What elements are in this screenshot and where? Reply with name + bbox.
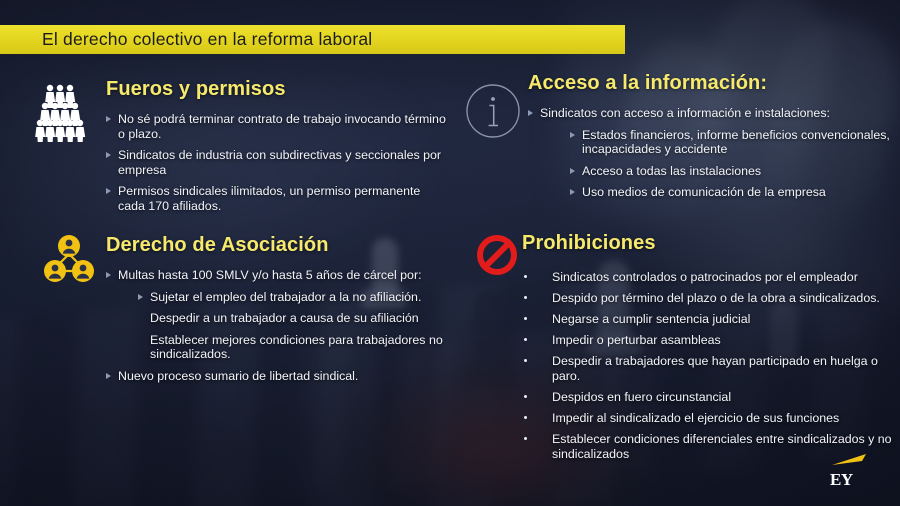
triangle-bullet-icon [570,189,575,195]
list-item: Despido por término del plazo o de la ob… [522,291,894,306]
list-item-text: Sindicatos controlados o patrocinados po… [552,270,858,284]
list-item: Permisos sindicales ilimitados, un permi… [106,184,448,213]
dot-bullet-icon [524,275,527,278]
list-item-text: Acceso a todas las instalaciones [582,164,761,178]
list-item-text: No sé podrá terminar contrato de trabajo… [118,112,446,141]
triangle-bullet-icon [106,152,111,158]
page-title: El derecho colectivo en la reforma labor… [42,29,372,50]
bullet-list-fueros: No sé podrá terminar contrato de trabajo… [106,112,448,214]
infographic-slide: El derecho colectivo en la reforma labor… [0,0,900,506]
list-item: Sindicatos controlados o patrocinados po… [522,270,894,285]
list-item: Sujetar el empleo del trabajador a la no… [138,290,458,305]
list-item: Establecer mejores condiciones para trab… [138,333,458,362]
dot-bullet-icon [524,395,527,398]
list-item-text: Impedir al sindicalizado el ejercicio de… [552,411,839,425]
list-item-text: Despedir a un trabajador a causa de su a… [150,311,419,325]
title-banner: El derecho colectivo en la reforma labor… [0,25,625,54]
section-header-asociacion: Derecho de Asociación [106,234,458,268]
dot-bullet-icon [524,317,527,320]
section-header-prohibiciones: Prohibiciones [522,232,894,266]
triangle-bullet-icon [106,373,111,379]
bullet-list-acceso: Sindicatos con acceso a información e in… [528,106,890,200]
list-item-text: Sindicatos de industria con subdirectiva… [118,148,441,177]
list-item-text: Despido por término del plazo o de la ob… [552,291,880,305]
triangle-bullet-icon [106,188,111,194]
triangle-bullet-icon [570,132,575,138]
section-header-acceso: Acceso a la información: [528,72,890,106]
dot-bullet-icon [524,296,527,299]
dot-bullet-icon [524,437,527,440]
dot-bullet-icon [524,338,527,341]
bullet-list-asociacion: Multas hasta 100 SMLV y/o hasta 5 años d… [106,268,458,384]
list-item-text: Nuevo proceso sumario de libertad sindic… [118,369,358,383]
prohibition-sign-icon [476,234,518,281]
list-item: Sindicatos con acceso a información e in… [528,106,890,121]
ey-beam-icon [832,454,868,466]
section-derecho-de-asociacion: Derecho de Asociación Multas hasta 100 S… [28,234,458,391]
list-item-text: Despidos en fuero circunstancial [552,390,731,404]
list-item-text: Multas hasta 100 SMLV y/o hasta 5 años d… [118,268,422,282]
list-item: Nuevo proceso sumario de libertad sindic… [106,369,458,384]
list-item: Uso medios de comunicación de la empresa [570,185,890,200]
section-title: Derecho de Asociación [106,234,458,257]
section-header-fueros: Fueros y permisos [106,78,448,112]
section-title: Fueros y permisos [106,78,448,101]
dot-bullet-icon [524,416,527,419]
section-title: Acceso a la información: [528,72,890,95]
section-acceso-a-la-informacion: Acceso a la información: Sindicatos con … [460,72,890,207]
info-circle-icon [464,82,522,145]
people-network-icon [42,234,96,289]
list-item-text: Uso medios de comunicación de la empresa [582,185,826,199]
list-item: Negarse a cumplir sentencia judicial [522,312,894,327]
list-item-text: Sujetar el empleo del trabajador a la no… [150,290,421,304]
section-prohibiciones: Prohibiciones Sindicatos controlados o p… [474,232,894,468]
section-fueros-y-permisos: Fueros y permisos No sé podrá terminar c… [28,78,448,221]
ey-logo: EY [824,452,872,490]
list-item: Estados financieros, informe beneficios … [570,128,890,157]
bullet-list-prohibiciones: Sindicatos controlados o patrocinados po… [522,270,894,462]
triangle-bullet-icon [138,294,143,300]
list-item: Despidos en fuero circunstancial [522,390,894,405]
list-item-text: Establecer mejores condiciones para trab… [150,333,443,362]
list-item: Acceso a todas las instalaciones [570,164,890,179]
people-group-icon [30,84,92,147]
dot-bullet-icon [524,359,527,362]
list-item-text: Sindicatos con acceso a información e in… [540,106,830,120]
section-title: Prohibiciones [522,232,894,255]
list-item: Despedir a un trabajador a causa de su a… [138,311,458,326]
ey-logo-text: EY [830,470,853,490]
list-item-text: Permisos sindicales ilimitados, un permi… [118,184,420,213]
list-item-text: Impedir o perturbar asambleas [552,333,721,347]
list-item: Impedir al sindicalizado el ejercicio de… [522,411,894,426]
list-item: Impedir o perturbar asambleas [522,333,894,348]
list-item-text: Estados financieros, informe beneficios … [582,128,890,157]
list-item: Multas hasta 100 SMLV y/o hasta 5 años d… [106,268,458,283]
list-item: Sindicatos de industria con subdirectiva… [106,148,448,177]
triangle-bullet-icon [106,272,111,278]
triangle-bullet-icon [106,116,111,122]
triangle-bullet-icon [528,110,533,116]
list-item-text: Despedir a trabajadores que hayan partic… [552,354,878,383]
list-item: No sé podrá terminar contrato de trabajo… [106,112,448,141]
list-item-text: Negarse a cumplir sentencia judicial [552,312,750,326]
triangle-bullet-icon [570,168,575,174]
list-item: Despedir a trabajadores que hayan partic… [522,354,894,384]
